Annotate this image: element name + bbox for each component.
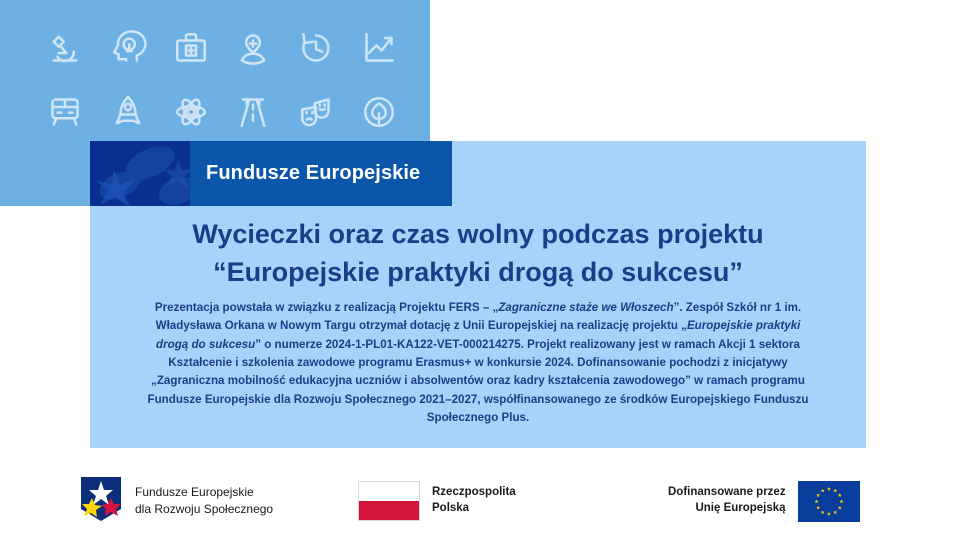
slide-title-line1: Wycieczki oraz czas wolny podczas projek…: [90, 215, 866, 253]
fe-banner-label: Fundusze Europejskie: [190, 141, 452, 206]
clock-history-icon: [285, 22, 348, 74]
atom-icon: [159, 86, 222, 138]
rp-logo-caption: Rzeczpospolita Polska: [432, 485, 516, 517]
growth-chart-icon: [347, 22, 410, 74]
slide-title-line2: “Europejskie praktyki drogą do sukcesu”: [90, 253, 866, 291]
decorative-icon-grid: [34, 22, 410, 138]
microscope-icon: [34, 22, 97, 74]
medical-bag-icon: [159, 22, 222, 74]
train-icon: [34, 86, 97, 138]
eu-logo-line2: Unię Europejską: [668, 501, 786, 517]
fe-logo-caption: Fundusze Europejskie dla Rozwoju Społecz…: [135, 484, 273, 517]
logo-fundusze-europejskie: Fundusze Europejskie dla Rozwoju Społecz…: [78, 472, 273, 530]
rocket-icon: [97, 86, 160, 138]
theater-masks-icon: [285, 86, 348, 138]
eu-flag-icon: [798, 481, 860, 522]
fundusze-europejskie-banner: Fundusze Europejskie: [90, 141, 452, 206]
eu-logo-line1: Dofinansowane przez: [668, 485, 786, 501]
rp-logo-line1: Rzeczpospolita: [432, 485, 516, 501]
body-project-name-1: Zagraniczne staże we Włoszech: [498, 301, 673, 314]
road-icon: [222, 86, 285, 138]
slide-title: Wycieczki oraz czas wolny podczas projek…: [90, 215, 866, 292]
heart-person-icon: [222, 22, 285, 74]
head-lightbulb-icon: [97, 22, 160, 74]
tree-circle-icon: [347, 86, 410, 138]
logo-rzeczpospolita-polska: Rzeczpospolita Polska: [358, 472, 516, 530]
body-segment-1: Prezentacja powstała w związku z realiza…: [155, 301, 498, 314]
rp-logo-line2: Polska: [432, 501, 516, 517]
fe-logo-mark: [78, 474, 124, 529]
slide-body-text: Prezentacja powstała w związku z realiza…: [142, 299, 814, 427]
logo-unia-europejska: Dofinansowane przez Unię Europejską: [668, 472, 860, 530]
poland-flag-icon: [358, 481, 420, 521]
fe-logo-line2: dla Rozwoju Społecznego: [135, 501, 273, 518]
fe-banner-star-graphic: [90, 141, 190, 206]
footer-logo-strip: Fundusze Europejskie dla Rozwoju Społecz…: [0, 462, 960, 540]
eu-logo-caption: Dofinansowane przez Unię Europejską: [668, 485, 786, 517]
fe-logo-line1: Fundusze Europejskie: [135, 484, 273, 501]
